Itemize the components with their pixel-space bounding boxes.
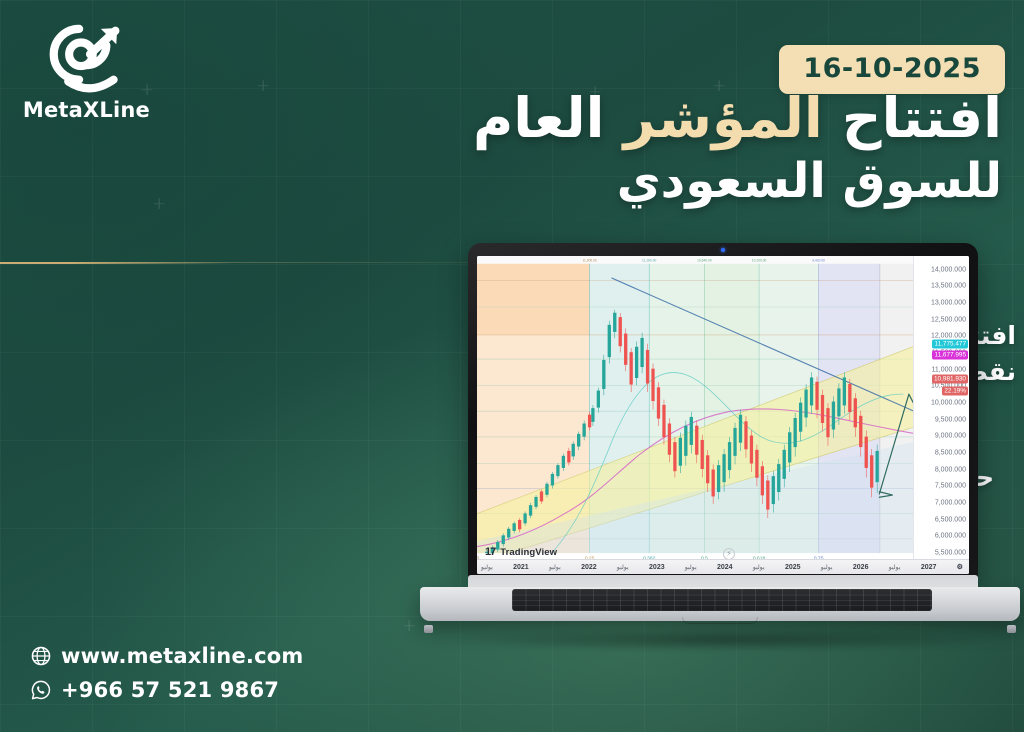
globe-icon (30, 645, 52, 667)
laptop-shadow (456, 629, 988, 651)
price-tick: 10,000.000 (931, 399, 966, 406)
price-tick: 12,000.000 (931, 333, 966, 340)
poster-canvas: + + + + + + MetaXLine 16-10-2025 افتتاح … (0, 0, 1024, 732)
price-tick: 13,500.000 (931, 283, 966, 290)
laptop-screen: 11,900.00 11,180.00 10,640.00 10,100.00 … (477, 256, 969, 574)
time-tick: يوليو (549, 564, 561, 571)
time-tick: يوليو (481, 564, 493, 571)
webcam-indicator-icon (721, 248, 725, 252)
headline-line-2: للسوق السعودي (242, 154, 1002, 209)
plus-decor-icon: + (402, 618, 416, 635)
tradingview-mark-icon: 17 (485, 546, 495, 558)
price-axis[interactable]: 14,000.000 13,500.000 13,000.000 12,500.… (913, 256, 969, 559)
laptop-open-notch (682, 617, 758, 624)
price-tick: 5,500.000 (935, 549, 966, 556)
time-tick: 2024 (717, 564, 733, 571)
tradingview-logo[interactable]: 17 TradingView (485, 546, 557, 558)
headline-line-1: افتتاح المؤشر العام (242, 88, 1002, 150)
time-tick: يوليو (889, 564, 901, 571)
time-tick: يوليو (685, 564, 697, 571)
tradingview-brand-text: TradingView (500, 547, 557, 558)
laptop-mockup: 11,900.00 11,180.00 10,640.00 10,100.00 … (420, 243, 1020, 653)
price-tick: 13,000.000 (931, 299, 966, 306)
price-tag-cyan: 11,775.477 (932, 340, 968, 349)
price-tag-magenta: 11,677.995 (932, 350, 968, 359)
laptop-deck (420, 587, 1020, 621)
website-text: www.metaxline.com (61, 644, 303, 668)
svg-text:10,640.00: 10,640.00 (697, 258, 712, 262)
time-tick: يوليو (753, 564, 765, 571)
headline-block: افتتاح المؤشر العام للسوق السعودي (242, 88, 1002, 209)
time-tick: 2021 (513, 564, 529, 571)
gold-divider-accent (0, 262, 232, 264)
price-tick: 14,000.000 (931, 266, 966, 273)
price-tag-change: 22.19% (942, 386, 968, 395)
time-tick: يوليو (821, 564, 833, 571)
contact-website[interactable]: www.metaxline.com (30, 644, 303, 668)
time-axis[interactable]: يوليو 2021 يوليو 2022 يوليو 2023 يوليو 2… (477, 559, 969, 574)
contact-phone[interactable]: +966 57 521 9867 (30, 678, 303, 702)
headline-prefix: افتتاح (823, 86, 1002, 150)
laptop-foot (424, 625, 433, 633)
laptop-keyboard (512, 589, 932, 611)
time-tick: يوليو (617, 564, 629, 571)
price-tag-red: 10,981.930 (932, 375, 968, 384)
laptop-lid: 11,900.00 11,180.00 10,640.00 10,100.00 … (468, 243, 978, 581)
chart-plot-area (477, 264, 951, 574)
time-tick: 2022 (581, 564, 597, 571)
svg-text:9,420.00: 9,420.00 (812, 258, 825, 262)
price-tick: 11,000.000 (931, 366, 966, 373)
time-tick: 2023 (649, 564, 665, 571)
tradingview-chart[interactable]: 11,900.00 11,180.00 10,640.00 10,100.00 … (477, 256, 969, 574)
headline-highlight: المؤشر (624, 86, 823, 150)
price-tick: 12,500.000 (931, 316, 966, 323)
gear-icon[interactable]: ⚙ (957, 563, 963, 571)
svg-text:11,180.00: 11,180.00 (642, 258, 656, 262)
price-tick: 7,500.000 (935, 483, 966, 490)
phone-text: +966 57 521 9867 (61, 678, 279, 702)
whatsapp-icon (30, 679, 52, 701)
price-tick: 9,500.000 (935, 416, 966, 423)
price-tick: 8,500.000 (935, 449, 966, 456)
laptop-base (420, 575, 1020, 627)
price-tick: 9,000.000 (935, 433, 966, 440)
price-tick: 6,000.000 (935, 533, 966, 540)
price-tick: 7,000.000 (935, 499, 966, 506)
time-tick: 2026 (853, 564, 869, 571)
price-tick: 8,000.000 (935, 466, 966, 473)
laptop-foot (1007, 625, 1016, 633)
time-tick: 2025 (785, 564, 801, 571)
chart-canvas: 11,900.00 11,180.00 10,640.00 10,100.00 … (477, 256, 969, 574)
headline-suffix: العام (473, 86, 624, 150)
svg-text:11,900.00: 11,900.00 (582, 258, 596, 262)
footer-contacts: www.metaxline.com +966 57 521 9867 (30, 644, 303, 712)
brand-logo: MetaXLine (30, 18, 150, 122)
time-tick: 2027 (921, 564, 937, 571)
svg-text:10,100.00: 10,100.00 (752, 258, 767, 262)
plus-decor-icon: + (152, 196, 166, 213)
metaxline-growth-arrow-logo-icon (44, 18, 136, 96)
brand-wordmark: MetaXLine (30, 98, 150, 122)
price-tick: 6,500.000 (935, 516, 966, 523)
